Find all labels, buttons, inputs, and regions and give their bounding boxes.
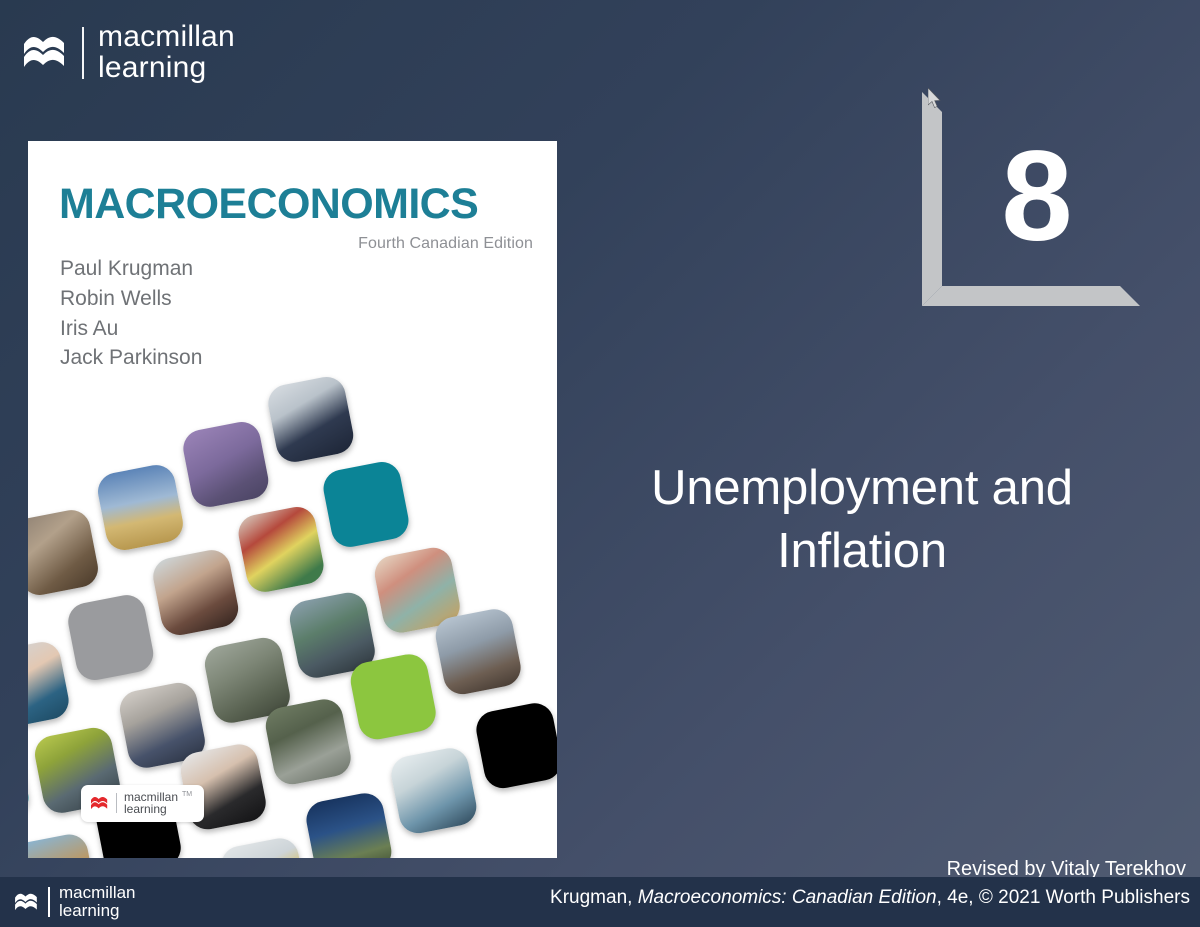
brand-word-line1: macmillan — [98, 22, 235, 53]
cover-publisher-badge: macmillan learning TM — [81, 785, 204, 822]
tile-friends — [150, 547, 241, 638]
macmillan-waves-icon — [14, 891, 39, 914]
chapter-number: 8 — [966, 133, 1106, 261]
footer-logo-divider — [48, 887, 50, 917]
tile-powerlines — [180, 419, 271, 510]
cover-author-list: Paul KrugmanRobin WellsIris AuJack Parki… — [60, 254, 202, 373]
tile-teal-2 — [28, 736, 32, 827]
chapter-title: Unemployment and Inflation — [592, 457, 1132, 582]
tile-baby-nurse — [28, 639, 72, 730]
footer-bar: macmillan learning Krugman, Macroeconomi… — [0, 877, 1200, 927]
macmillan-learning-logo: macmillan learning — [22, 22, 235, 84]
badge-wordmark: macmillan learning — [124, 791, 178, 816]
chapter-title-slide: macmillan learning MACROECONOMICS Fourth… — [0, 0, 1200, 927]
tile-paramedic — [265, 374, 356, 465]
badge-word-line2: learning — [124, 803, 178, 816]
tile-flags — [235, 504, 326, 595]
logo-divider — [82, 27, 84, 79]
tile-solar-wind — [303, 790, 394, 858]
tile-harvest — [95, 462, 186, 553]
tile-black-2 — [473, 700, 557, 791]
macmillan-waves-icon — [22, 32, 68, 74]
footer-macmillan-logo: macmillan learning — [14, 885, 136, 919]
tile-scientist — [388, 745, 479, 836]
badge-trademark: TM — [182, 791, 192, 798]
mouse-cursor-icon — [928, 88, 942, 109]
cover-author-name: Iris Au — [60, 314, 202, 344]
tile-teal-1 — [320, 459, 411, 550]
footer-citation: Krugman, Macroeconomics: Canadian Editio… — [550, 887, 1190, 909]
brand-word-line2: learning — [98, 53, 235, 84]
tile-gray-1 — [65, 592, 156, 683]
citation-book-title: Macroeconomics: Canadian Edition — [638, 887, 937, 908]
footer-wordmark: macmillan learning — [59, 884, 136, 920]
tile-dog-walker — [263, 696, 354, 787]
cover-edition-label: Fourth Canadian Edition — [358, 235, 533, 253]
cover-book-title: MACROECONOMICS — [59, 183, 478, 226]
book-cover-image: MACROECONOMICS Fourth Canadian Edition P… — [28, 141, 557, 858]
tile-construction — [28, 831, 99, 858]
cover-author-name: Robin Wells — [60, 284, 202, 314]
macmillan-waves-icon-red — [90, 795, 109, 812]
tile-cattle — [28, 507, 101, 598]
tile-green-2 — [347, 651, 438, 742]
brand-wordmark: macmillan learning — [98, 22, 235, 84]
cover-author-name: Paul Krugman — [60, 254, 202, 284]
citation-suffix: , 4e, © 2021 Worth Publishers — [937, 887, 1190, 908]
badge-divider — [116, 793, 117, 813]
cover-author-name: Jack Parkinson — [60, 343, 202, 373]
footer-word-line1: macmillan — [59, 884, 136, 902]
tile-lab-tech — [218, 835, 309, 858]
footer-word-line2: learning — [59, 902, 136, 920]
tile-smokestack — [432, 606, 523, 697]
citation-prefix: Krugman, — [550, 887, 638, 908]
